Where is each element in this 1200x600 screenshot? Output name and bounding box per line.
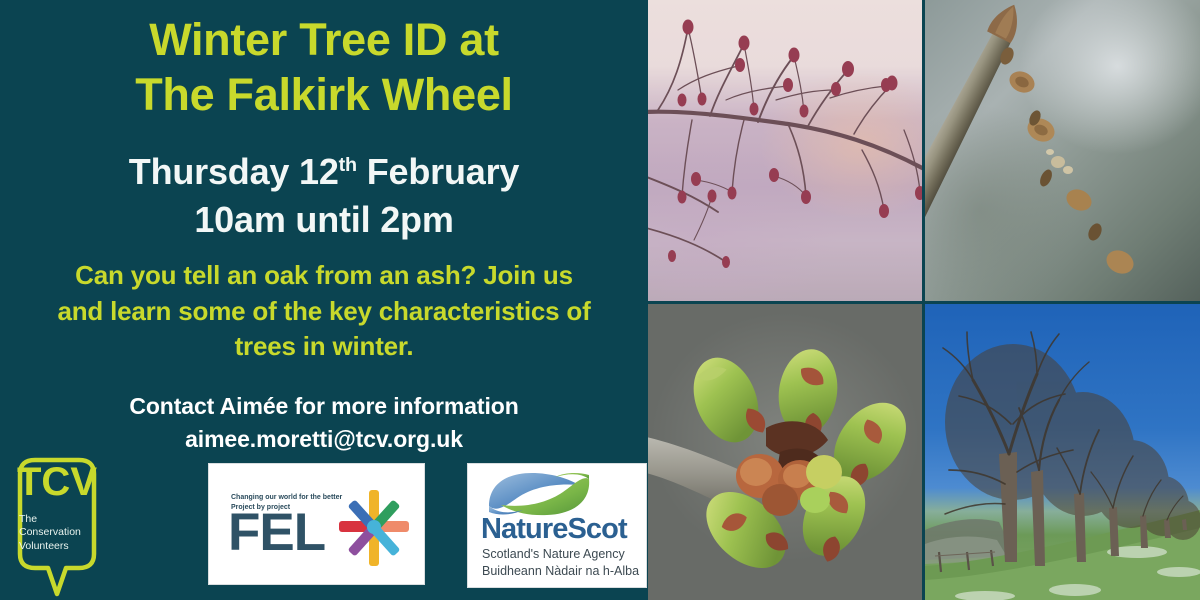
photo-grid-vertical-seam [922, 0, 925, 600]
event-poster: Winter Tree ID at The Falkirk Wheel Thur… [0, 0, 1200, 600]
contact-instruction: Contact Aimée for more information [0, 390, 648, 423]
tcv-logo: TCV The Conservation Volunteers [8, 452, 106, 600]
naturescot-wordmark: NatureScot [481, 515, 627, 544]
pinwheel-asterisk-icon [337, 488, 411, 568]
rose-hip-branches-art [648, 0, 922, 301]
photo-collage [648, 0, 1200, 600]
headline-line-1: Winter Tree ID at [0, 12, 648, 67]
naturescot-subtitle: Scotland's Nature Agency Buidheann Nàdai… [482, 546, 644, 579]
fel-wordmark: FEL [228, 506, 325, 559]
description-line-1: Can you tell an oak from an ash? Join us [18, 258, 630, 294]
naturescot-subtitle-line-2: Buidheann Nàdair na h-Alba [482, 563, 644, 580]
event-description: Can you tell an oak from an ash? Join us… [18, 258, 630, 365]
green-red-buds-art [648, 304, 922, 600]
contact-email[interactable]: aimee.moretti@tcv.org.uk [0, 423, 648, 456]
bare-trees-hillside-art [925, 304, 1200, 600]
contact-block: Contact Aimée for more information aimee… [0, 390, 648, 455]
event-datetime: Thursday 12th February 10am until 2pm [0, 148, 648, 244]
event-time: 10am until 2pm [0, 196, 648, 244]
leaf-swoosh-icon [483, 470, 595, 518]
tcv-pin-tag-icon [8, 452, 106, 600]
photo-rose-hips [648, 0, 922, 301]
page-title: Winter Tree ID at The Falkirk Wheel [0, 12, 648, 123]
naturescot-subtitle-line-1: Scotland's Nature Agency [482, 546, 644, 563]
text-panel: Winter Tree ID at The Falkirk Wheel Thur… [0, 0, 648, 600]
description-line-3: trees in winter. [18, 329, 630, 365]
photo-winter-trees [925, 304, 1200, 600]
event-date-month: February [357, 151, 519, 192]
photo-bud-cluster [648, 304, 922, 600]
photo-grid-horizontal-seam [648, 301, 1200, 304]
headline-line-2: The Falkirk Wheel [0, 67, 648, 122]
event-date: Thursday 12th February [0, 148, 648, 196]
fel-logo: Changing our world for the better Projec… [208, 463, 425, 585]
naturescot-logo: NatureScot Scotland's Nature Agency Buid… [467, 463, 647, 588]
event-date-day: Thursday 12 [129, 151, 339, 192]
event-date-ordinal: th [339, 154, 357, 176]
description-line-2: and learn some of the key characteristic… [18, 294, 630, 330]
photo-twig-bud [925, 0, 1200, 301]
twig-bud-art [925, 0, 1200, 301]
